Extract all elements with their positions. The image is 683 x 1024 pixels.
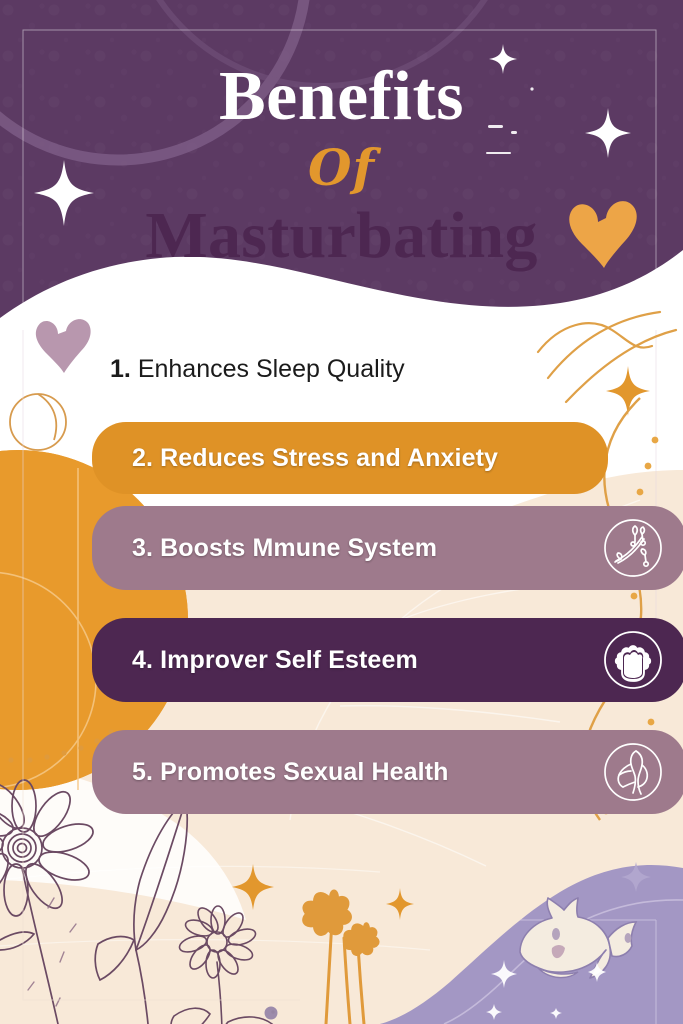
- title-connector-of: Of: [0, 142, 683, 194]
- benefit-3-number: 3.: [132, 534, 153, 562]
- benefit-2-text: 2. Reduces Stress and Anxiety: [92, 444, 498, 473]
- infographic-poster: Benefits Of Masturbating 1. Enhances Sle…: [0, 0, 683, 1024]
- title-masturbating: Masturbating: [0, 198, 683, 274]
- poster-title-block: Benefits Of Masturbating: [0, 58, 683, 274]
- benefit-2-number: 2.: [132, 444, 153, 472]
- benefit-1-label: Enhances Sleep Quality: [138, 355, 405, 383]
- benefit-4-number: 4.: [132, 646, 153, 674]
- benefit-3-label: Boosts Mmune System: [160, 534, 437, 562]
- benefit-1-number: 1.: [110, 355, 131, 383]
- benefit-4-label: Improver Self Esteem: [160, 646, 418, 674]
- figure-circle-icon: [602, 741, 664, 803]
- benefit-row-1: 1. Enhances Sleep Quality: [0, 344, 683, 394]
- benefit-row-2[interactable]: 2. Reduces Stress and Anxiety: [92, 422, 608, 494]
- benefit-5-number: 5.: [132, 758, 153, 786]
- benefit-5-label: Promotes Sexual Health: [160, 758, 448, 786]
- benefit-2-label: Reduces Stress and Anxiety: [160, 444, 498, 472]
- benefit-5-text: 5. Promotes Sexual Health: [92, 758, 449, 787]
- cloud-pot-circle-icon: [602, 629, 664, 691]
- title-benefits: Benefits: [0, 58, 683, 136]
- benefit-1-text: 1. Enhances Sleep Quality: [110, 344, 405, 394]
- benefit-row-3[interactable]: 3. Boosts Mmune System: [92, 506, 683, 590]
- benefits-list: 1. Enhances Sleep Quality 2. Reduces Str…: [0, 344, 683, 394]
- benefit-3-text: 3. Boosts Mmune System: [92, 534, 437, 563]
- benefit-row-5[interactable]: 5. Promotes Sexual Health: [92, 730, 683, 814]
- benefit-row-4[interactable]: 4. Improver Self Esteem: [92, 618, 683, 702]
- branch-circle-icon: [602, 517, 664, 579]
- benefit-4-text: 4. Improver Self Esteem: [92, 646, 418, 675]
